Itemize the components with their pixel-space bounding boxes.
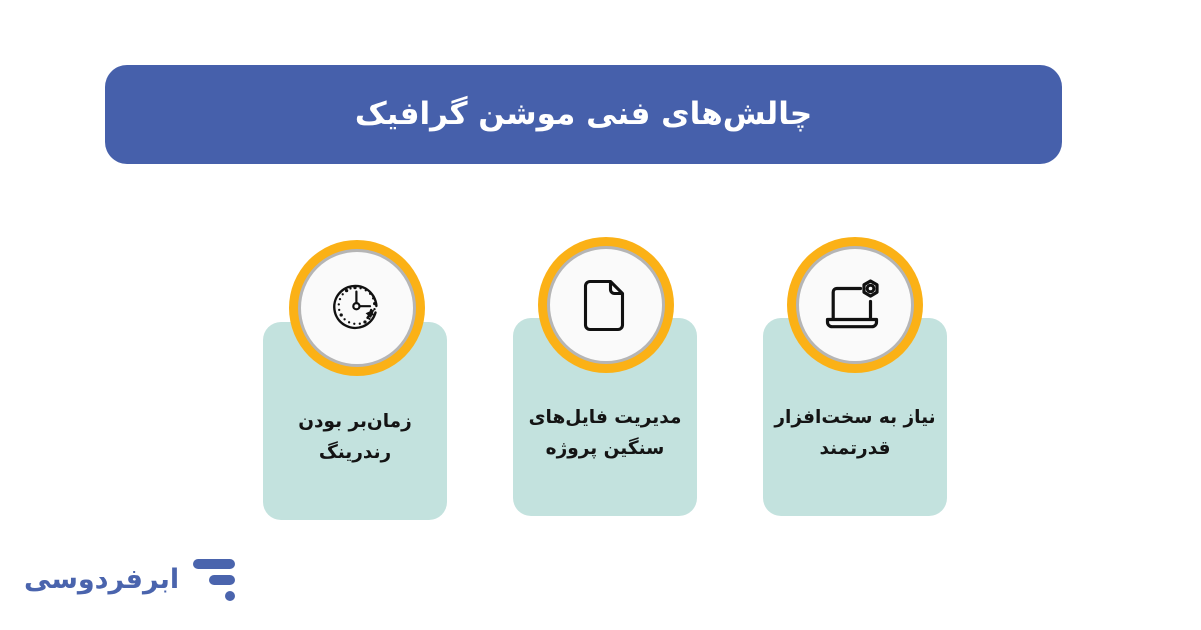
medallion-inner-ring xyxy=(547,246,665,364)
card-label-powerful-hardware: نیاز به سخت‌افزار قدرتمند xyxy=(763,402,947,464)
card-label-heavy-project-files: مدیریت فایل‌های سنگین پروژه xyxy=(513,402,697,464)
card-label-line1: نیاز به سخت‌افزار xyxy=(774,407,935,428)
brand-logo[interactable]: ابرفردوسی xyxy=(24,557,235,601)
medallion-powerful-hardware xyxy=(787,237,923,373)
clock-icon xyxy=(325,276,389,340)
infographic-canvas: چالش‌های فنی موشن گرافیک زمان‌بر بودن رن… xyxy=(0,0,1201,630)
card-label-line2: قدرتمند xyxy=(819,438,890,459)
card-label-line1: زمان‌بر بودن xyxy=(298,411,412,432)
medallion-heavy-project-files xyxy=(538,237,674,373)
card-label-line1: مدیریت فایل‌های xyxy=(529,407,682,428)
logo-bar-long xyxy=(193,559,235,569)
card-label-rendering-time: زمان‌بر بودن رندرینگ xyxy=(263,406,447,468)
brand-logo-text: ابرفردوسی xyxy=(24,564,179,595)
logo-bar-dot xyxy=(225,591,235,601)
header-banner: چالش‌های فنی موشن گرافیک xyxy=(105,65,1062,164)
page-title: چالش‌های فنی موشن گرافیک xyxy=(355,96,812,133)
logo-bar-medium xyxy=(209,575,235,585)
medallion-inner-ring xyxy=(796,246,914,364)
document-file-icon xyxy=(576,273,636,337)
brand-logo-mark-icon xyxy=(193,557,235,601)
card-label-line2: سنگین پروژه xyxy=(546,438,665,459)
card-label-line2: رندرینگ xyxy=(319,442,391,463)
laptop-hardware-icon xyxy=(820,274,890,336)
medallion-inner-ring xyxy=(298,249,416,367)
medallion-rendering-time xyxy=(289,240,425,376)
